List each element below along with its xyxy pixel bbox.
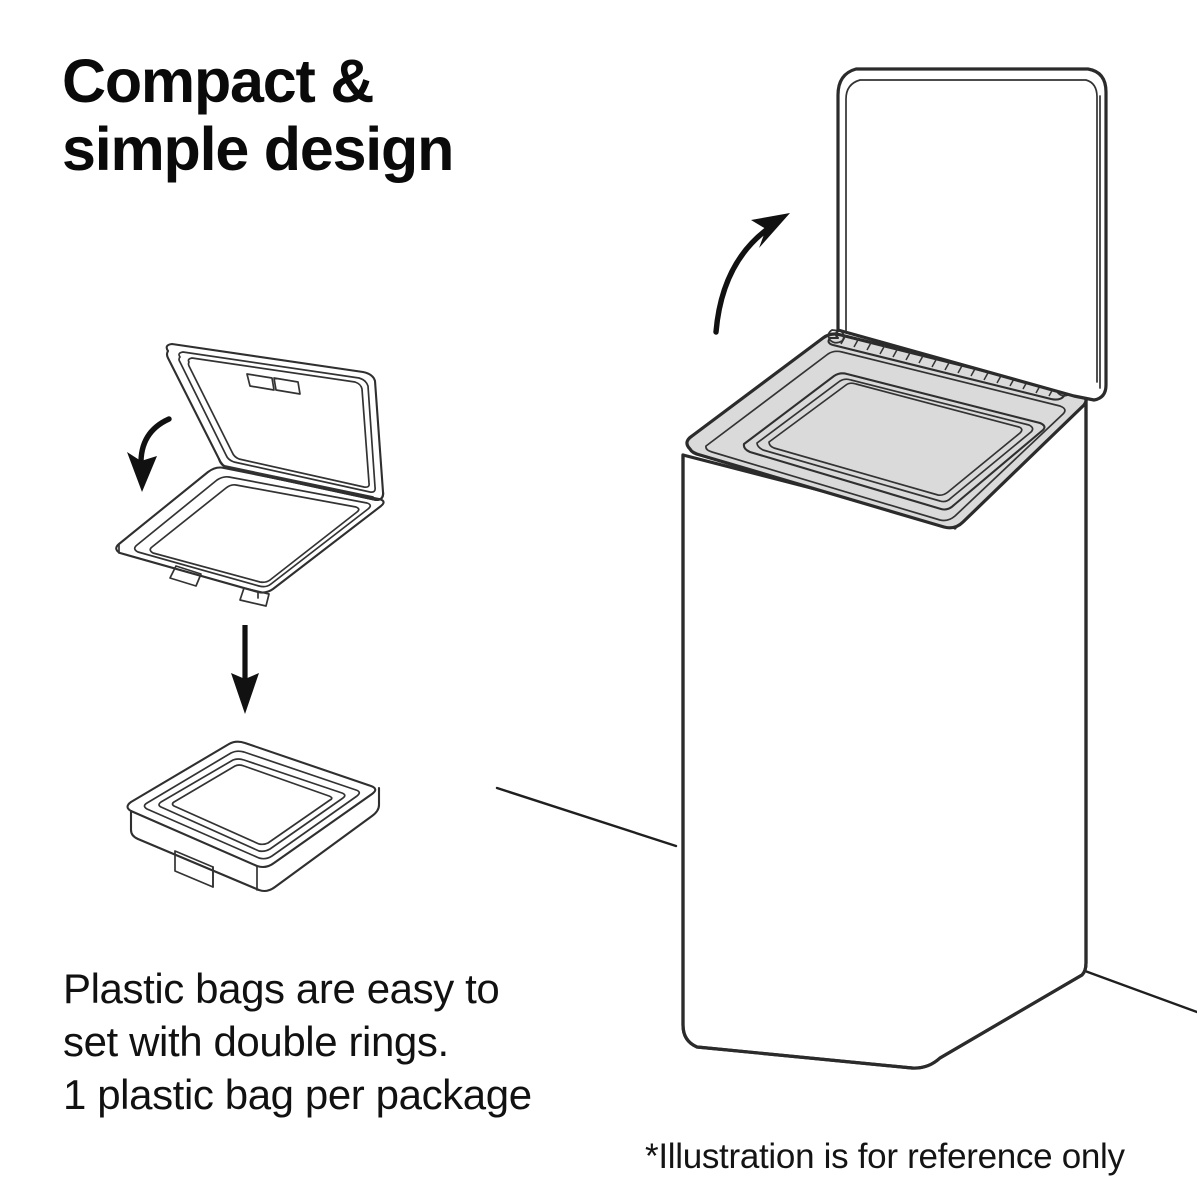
disclaimer-note: *Illustration is for reference only — [645, 1136, 1125, 1178]
page-title: Compact & simple design — [62, 48, 662, 183]
ring-close-arrow — [127, 419, 169, 492]
double-ring-closed — [128, 742, 380, 891]
double-ring-open — [116, 344, 383, 606]
lid-open-arrow — [716, 213, 790, 332]
body-description: Plastic bags are easy to set with double… — [63, 963, 663, 1122]
trash-bin — [683, 69, 1106, 1068]
ring-insert-arrow — [231, 625, 259, 714]
illustration-page: Compact & simple design Plastic bags are… — [0, 0, 1197, 1197]
